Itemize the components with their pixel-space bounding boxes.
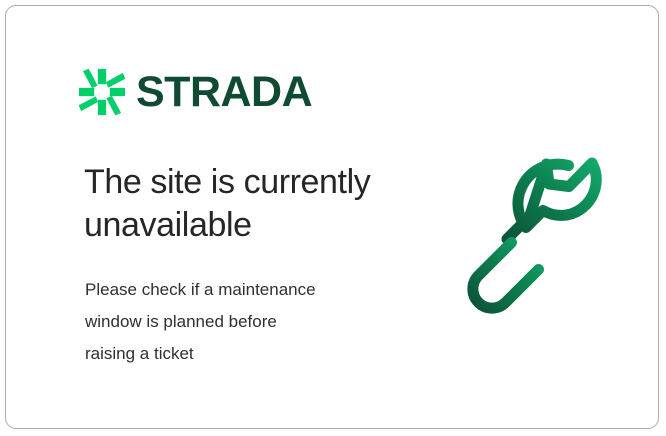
wrench-icon	[464, 158, 614, 313]
page-title: The site is currently unavailable	[84, 161, 424, 247]
maintenance-illustration	[464, 158, 614, 313]
description-line: raising a ticket	[85, 338, 415, 370]
maintenance-page: STRADA The site is currently unavailable…	[0, 0, 666, 436]
description-line: Please check if a maintenance	[85, 274, 415, 306]
status-card: STRADA The site is currently unavailable…	[5, 5, 659, 429]
brand-wordmark: STRADA	[136, 71, 312, 114]
brand-lockup: STRADA	[79, 69, 312, 115]
strada-logo-mark	[79, 69, 125, 115]
page-description: Please check if a maintenance window is …	[85, 274, 415, 370]
description-line: window is planned before	[85, 306, 415, 338]
asterisk-star-icon	[79, 69, 125, 115]
